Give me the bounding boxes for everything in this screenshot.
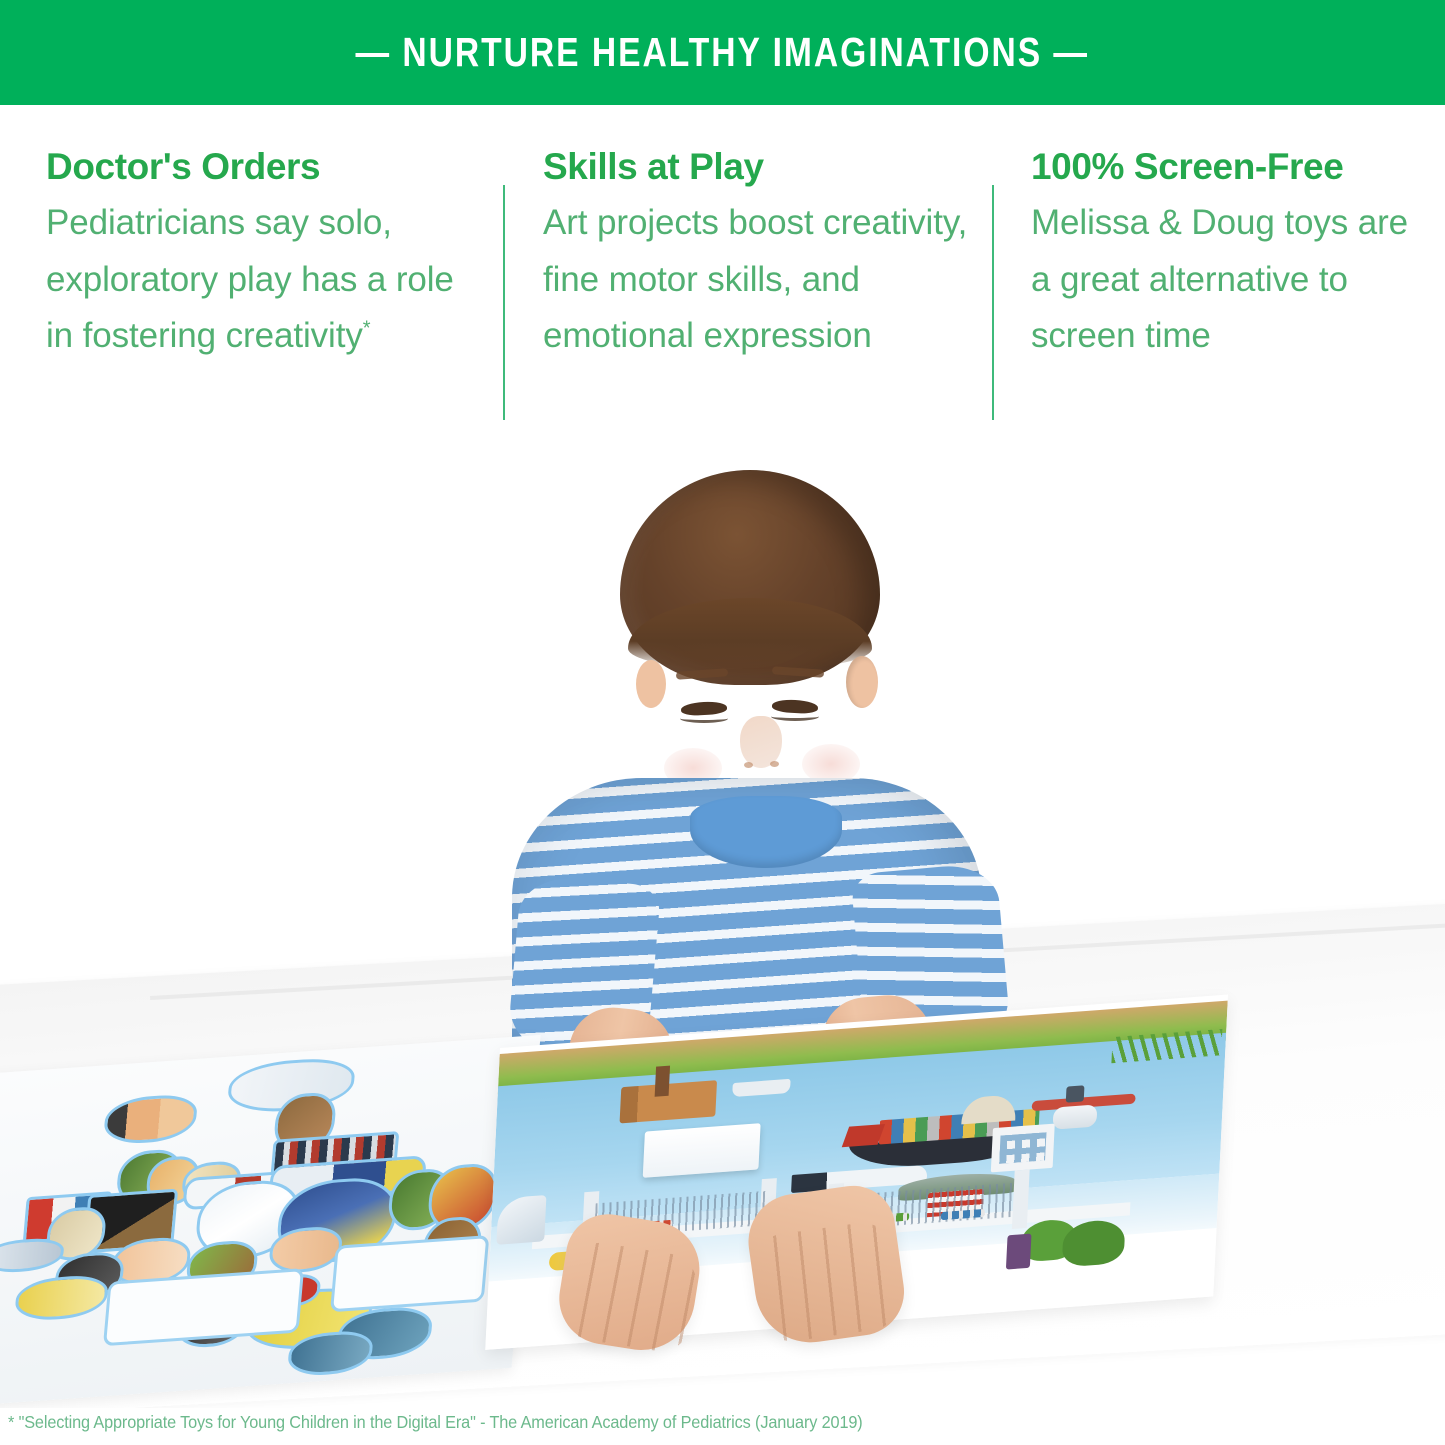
marketing-infographic-page: — NURTURE HEALTHY IMAGINATIONS — Doctor'…	[0, 0, 1445, 1445]
scene-airplane-tail	[1066, 1085, 1085, 1102]
sticker-banana-boat	[14, 1274, 109, 1323]
scene-monument-tower	[1006, 1234, 1032, 1270]
scene-airplane-body	[1052, 1104, 1097, 1129]
benefit-body-text: Pediatricians say solo, exploratory play…	[46, 203, 454, 355]
left-nostril	[744, 762, 753, 768]
right-hand-fingers	[751, 1219, 903, 1345]
benefit-body: Art projects boost creativity, fine moto…	[543, 195, 973, 365]
scene-bridge-tower-right-b	[1012, 1170, 1030, 1229]
benefit-body: Pediatricians say solo, exploratory play…	[46, 195, 486, 365]
right-nostril	[770, 761, 779, 767]
right-ear	[846, 656, 878, 708]
benefit-column-doctors-orders: Doctor's Orders Pediatricians say solo, …	[46, 148, 486, 365]
sticker-people	[103, 1093, 199, 1146]
benefits-section: Doctor's Orders Pediatricians say solo, …	[0, 148, 1445, 448]
benefit-body-text: Art projects boost creativity, fine moto…	[543, 203, 967, 355]
product-lifestyle-photo	[0, 448, 1445, 1408]
left-eyelash	[680, 714, 728, 723]
header-title: — NURTURE HEALTHY IMAGINATIONS —	[356, 32, 1090, 73]
scene-building-windows	[999, 1132, 1046, 1164]
right-eyelash	[771, 712, 819, 721]
scene-dock-post	[655, 1066, 670, 1097]
left-hand-fingers	[559, 1239, 701, 1356]
benefit-column-skills-at-play: Skills at Play Art projects boost creati…	[543, 148, 973, 365]
scene-sticker-in-hand	[643, 1123, 761, 1178]
sticker-outline-blank-2	[330, 1235, 489, 1312]
column-divider-1	[503, 185, 505, 420]
benefit-body: Melissa & Doug toys are a great alternat…	[1031, 195, 1431, 365]
benefit-column-screen-free: 100% Screen-Free Melissa & Doug toys are…	[1031, 148, 1431, 365]
left-ear	[636, 660, 666, 708]
benefit-heading: Skills at Play	[543, 148, 973, 187]
column-divider-2	[992, 185, 994, 420]
header-banner: — NURTURE HEALTHY IMAGINATIONS —	[0, 0, 1445, 105]
benefit-heading: Doctor's Orders	[46, 148, 486, 187]
reusable-sticker-sheet	[0, 1035, 541, 1407]
source-footnote: * "Selecting Appropriate Toys for Young …	[8, 1412, 863, 1433]
benefit-body-text: Melissa & Doug toys are a great alternat…	[1031, 203, 1408, 355]
benefit-heading: 100% Screen-Free	[1031, 148, 1431, 187]
sticker-speedboat	[0, 1237, 65, 1275]
footnote-marker: *	[363, 318, 371, 340]
